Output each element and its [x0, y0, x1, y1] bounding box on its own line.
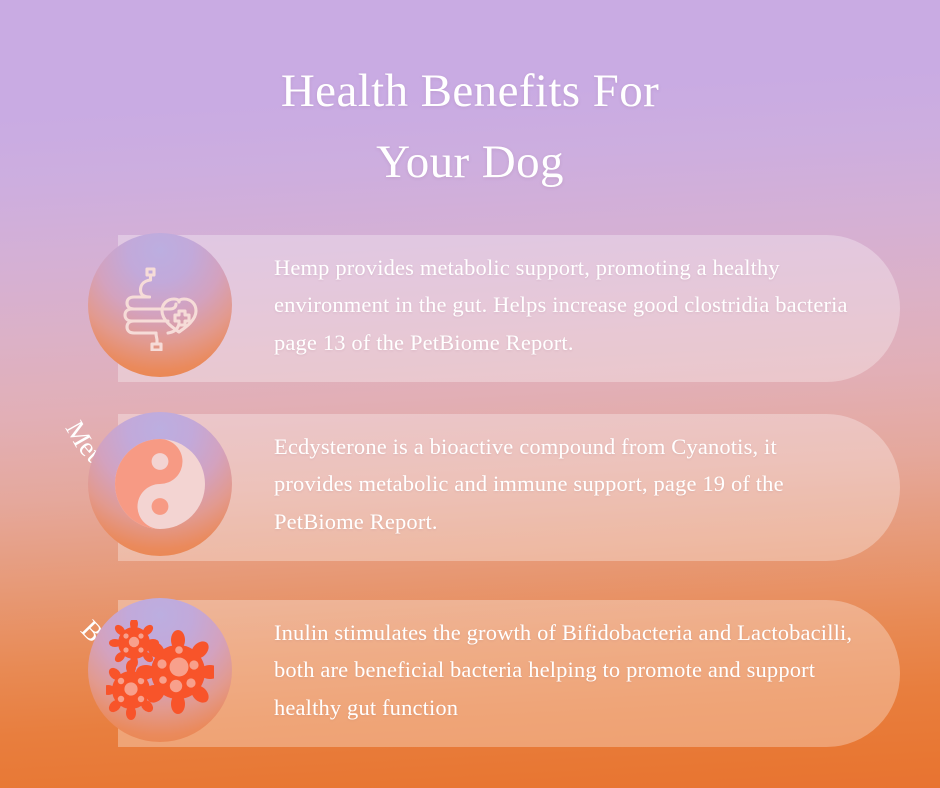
intestine-heart-cross-icon — [114, 259, 206, 351]
benefit-body-text: Ecdysterone is a bioactive compound from… — [274, 428, 854, 540]
yin-yang-icon — [110, 434, 210, 534]
benefit-body-text: Inulin stimulates the growth of Bifidoba… — [274, 614, 854, 726]
benefit-badge: Balance — [88, 412, 232, 556]
title-line-2: Your Dog — [0, 127, 940, 198]
page-title: Health Benefits For Your Dog — [0, 56, 940, 199]
infographic-poster: Health Benefits For Your Dog Hemp provid… — [0, 0, 940, 788]
title-line-1: Health Benefits For — [0, 56, 940, 127]
bacteria-cells-icon — [106, 620, 214, 720]
benefit-badge: Stability — [88, 598, 232, 742]
benefit-badge: Metabolism — [88, 233, 232, 377]
benefit-body-text: Hemp provides metabolic support, promoti… — [274, 249, 854, 361]
